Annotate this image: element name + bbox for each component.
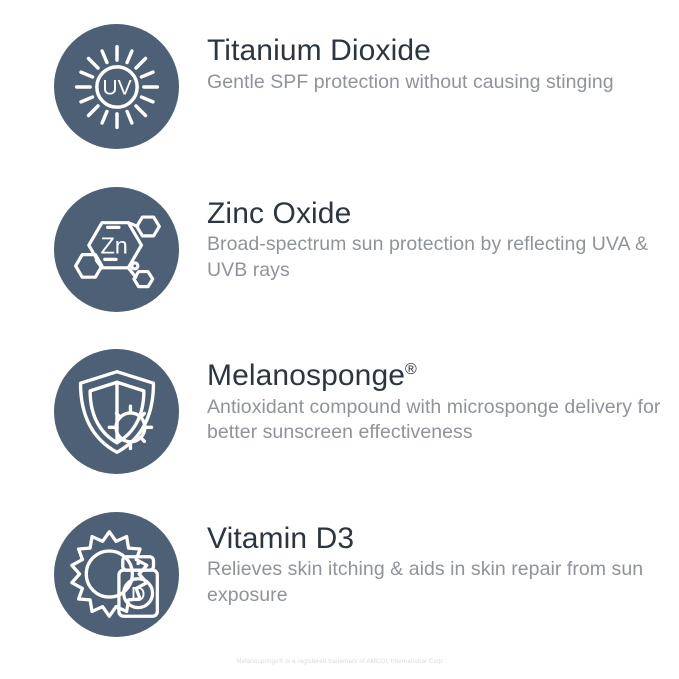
feature-text-zinc-oxide: Zinc Oxide Broad-spectrum sun protection… — [179, 187, 679, 284]
ingredient-feature-list: UV Titanium Dioxide Gentle SPF protectio… — [0, 0, 679, 650]
zinc-molecule-icon: Zn — [70, 202, 164, 296]
zinc-molecule-icon-badge: Zn — [54, 187, 179, 312]
feature-row-melanosponge: Melanosponge® Antioxidant compound with … — [0, 325, 679, 488]
feature-description: Broad-spectrum sun protection by reflect… — [207, 232, 657, 283]
uv-sun-icon: UV — [69, 39, 165, 135]
feature-row-titanium-dioxide: UV Titanium Dioxide Gentle SPF protectio… — [0, 0, 679, 163]
feature-text-titanium-dioxide: Titanium Dioxide Gentle SPF protection w… — [179, 24, 679, 95]
feature-description: Relieves skin itching & aids in skin rep… — [207, 557, 657, 608]
feature-title: Vitamin D3 — [207, 522, 679, 556]
shield-sun-icon — [69, 364, 165, 460]
feature-title: Melanosponge® — [207, 359, 679, 393]
uv-icon-label: UV — [102, 76, 131, 99]
sun-supplement-bottle-icon-badge: D — [54, 512, 179, 637]
trademark-footnote: Melanosponge® is a registered trademark … — [0, 658, 679, 665]
feature-row-vitamin-d3: D Vitamin D3 Relieves skin itching & aid… — [0, 488, 679, 651]
feature-title: Titanium Dioxide — [207, 34, 679, 68]
zinc-icon-label: Zn — [100, 233, 127, 259]
feature-row-zinc-oxide: Zn Zinc Oxide Broad-spectrum sun protect… — [0, 163, 679, 326]
feature-title-text: Melanosponge — [207, 359, 405, 392]
registered-trademark-symbol: ® — [405, 361, 417, 378]
feature-text-melanosponge: Melanosponge® Antioxidant compound with … — [179, 349, 679, 446]
feature-description: Antioxidant compound with microsponge de… — [207, 395, 677, 446]
vitamin-icon-label: D — [130, 584, 145, 606]
sun-supplement-bottle-icon: D — [69, 526, 165, 622]
feature-description: Gentle SPF protection without causing st… — [207, 70, 657, 96]
shield-sun-icon-badge — [54, 349, 179, 474]
feature-title: Zinc Oxide — [207, 197, 679, 231]
uv-sun-icon-badge: UV — [54, 24, 179, 149]
feature-text-vitamin-d3: Vitamin D3 Relieves skin itching & aids … — [179, 512, 679, 609]
